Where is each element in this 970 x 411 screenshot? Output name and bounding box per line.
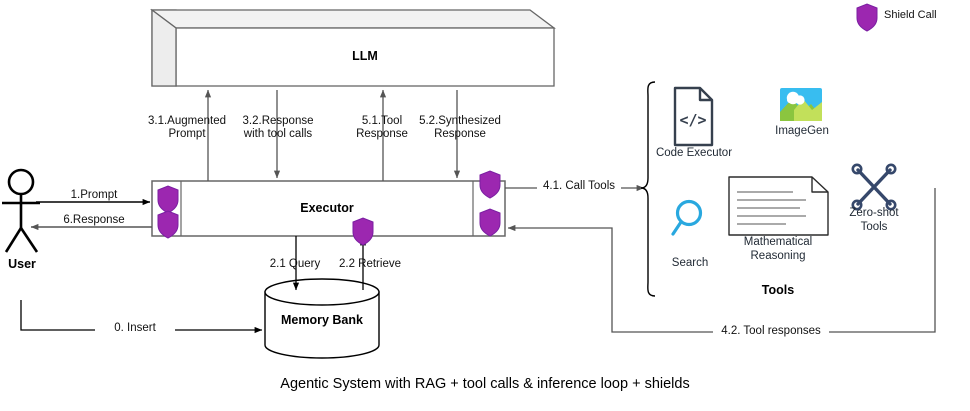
tool-label-search: Search	[660, 257, 720, 271]
image-icon	[780, 88, 822, 121]
formula-document-icon	[729, 177, 828, 235]
tools-group-label: Tools	[723, 283, 833, 297]
llm-label: LLM	[176, 49, 554, 63]
user-stick-figure	[2, 170, 40, 252]
executor-label: Executor	[181, 201, 473, 215]
edge-label-augmented-prompt: 3.1.Augmented Prompt	[141, 115, 233, 141]
memory-bank-label: Memory Bank	[265, 313, 379, 327]
user-label: User	[0, 257, 44, 271]
edge-label-response: 6.Response	[48, 214, 140, 227]
edge-label-tool-response: 5.1.Tool Response	[342, 115, 422, 141]
edge-label-insert: 0. Insert	[95, 322, 175, 335]
crossed-wrenches-icon	[853, 165, 895, 209]
tool-label-zero-shot: Zero-shot Tools	[838, 207, 910, 234]
edge-label-tool-responses: 4.2. Tool responses	[713, 325, 829, 338]
edge-label-response-tool-calls: 3.2.Response with tool calls	[230, 115, 326, 141]
edge-label-query: 2.1 Query	[256, 258, 334, 271]
magnifier-icon	[673, 202, 701, 235]
diagram-canvas: </>	[0, 0, 970, 411]
tool-label-imagegen: ImageGen	[763, 125, 841, 139]
edge-label-prompt: 1.Prompt	[52, 189, 136, 202]
diagram-caption: Agentic System with RAG + tool calls & i…	[0, 376, 970, 392]
shield-icon-memory	[353, 218, 373, 245]
legend-shield-label: Shield Call	[884, 9, 937, 21]
svg-text:</>: </>	[679, 111, 706, 129]
code-document-icon: </>	[675, 88, 712, 145]
edge-label-synthesized-response: 5.2.Synthesized Response	[412, 115, 508, 141]
edge-label-call-tools: 4.1. Call Tools	[537, 180, 621, 193]
llm-box	[152, 10, 554, 86]
shield-icon-legend	[857, 4, 877, 31]
edge-label-retrieve: 2.2 Retrieve	[330, 258, 410, 271]
tools-brace	[641, 82, 655, 296]
tool-label-code-executor: Code Executor	[645, 147, 743, 161]
tool-label-math-reasoning: Mathematical Reasoning	[723, 236, 833, 263]
